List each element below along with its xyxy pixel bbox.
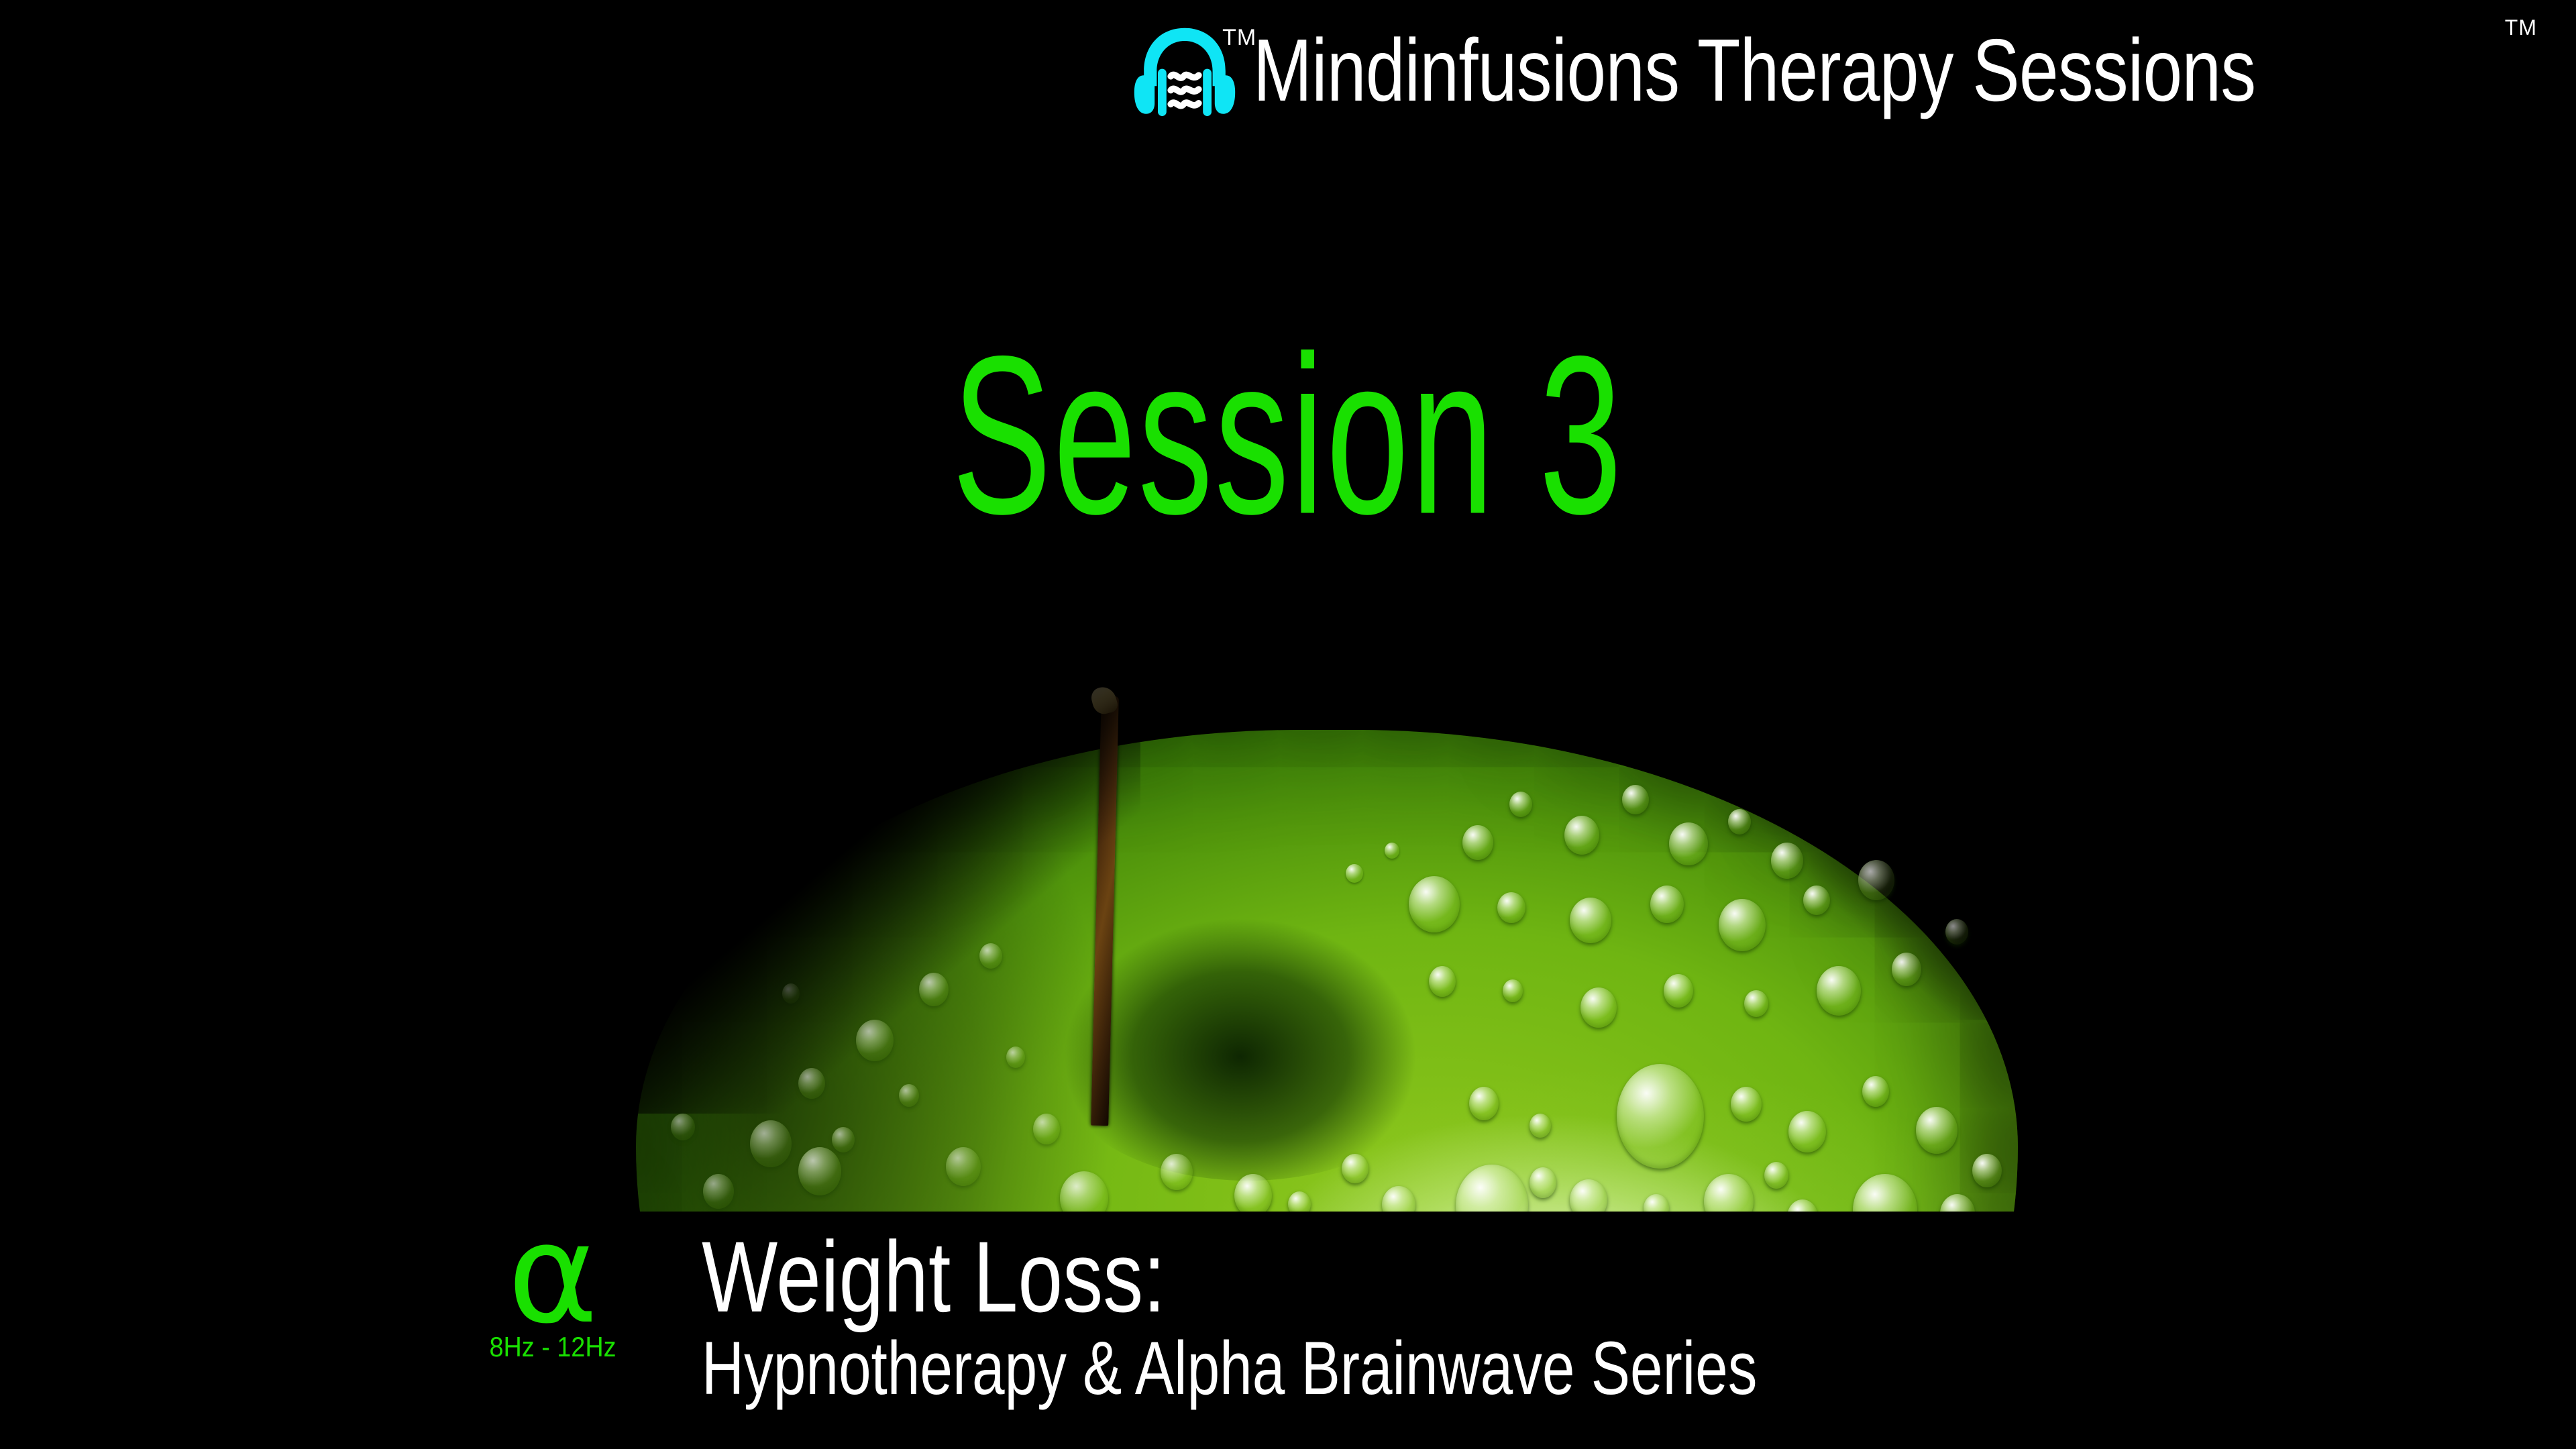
alpha-symbol: α <box>459 1212 647 1338</box>
session-title: Session 3 <box>335 322 2241 547</box>
apple-artwork <box>631 684 2021 1212</box>
frequency-range-label: 8Hz - 12Hz <box>468 1333 637 1361</box>
logo-trademark-mark: TM <box>1222 26 1256 49</box>
brand-title-wrap: Mindinfusions Therapy Sessions TM <box>1253 26 2537 115</box>
footer-title-block: Weight Loss: Hypnotherapy & Alpha Brainw… <box>702 1226 2055 1406</box>
alpha-badge: α 8Hz - 12Hz <box>459 1212 647 1361</box>
program-title: Weight Loss: <box>702 1226 1784 1327</box>
brand-name: Mindinfusions Therapy Sessions <box>1253 26 2255 115</box>
apple-image <box>631 684 2021 1212</box>
brand-header: TM Mindinfusions Therapy Sessions TM <box>1131 0 2537 141</box>
brand-trademark-mark: TM <box>2505 17 2537 38</box>
apple-body <box>636 730 2018 1212</box>
video-title-card: TM Mindinfusions Therapy Sessions TM Ses… <box>0 0 2576 1449</box>
program-subtitle: Hypnotherapy & Alpha Brainwave Series <box>702 1331 1757 1406</box>
brand-logo: TM <box>1131 19 1238 127</box>
